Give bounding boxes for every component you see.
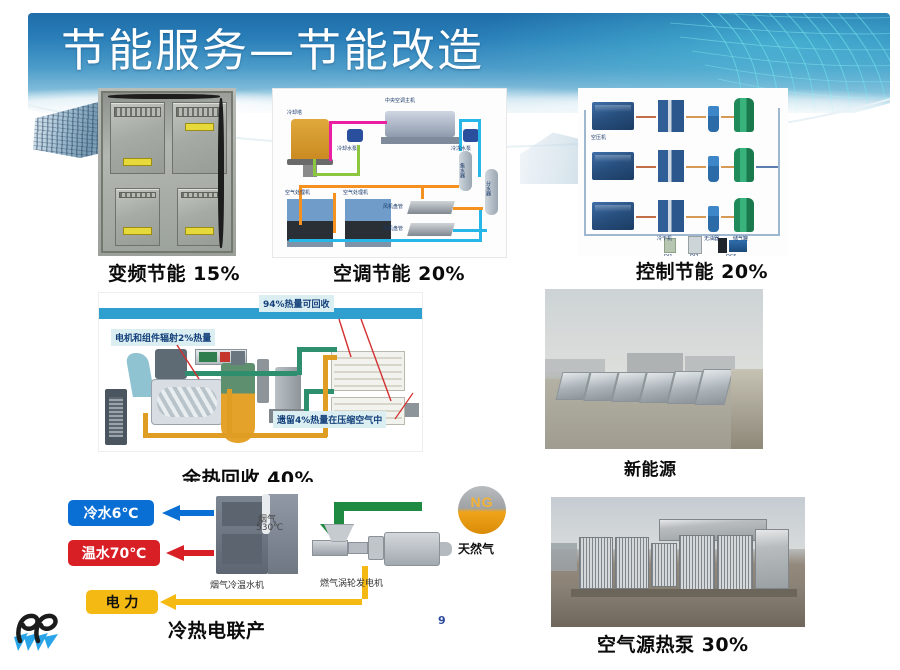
cair-label-dj1: DJ1 <box>664 254 673 256</box>
caption-cogeneration: 冷热电联产 <box>168 616 266 643</box>
cogen-label-fluegas-temp: 530℃ <box>256 523 283 533</box>
hvac-label-chiller: 中央空调主机 <box>385 97 415 104</box>
cair-label-filter: 无油器 <box>704 235 719 242</box>
image-compressed-air-schematic: 空压机 冷干机 无油器 储气罐 DJ1 DJ2 DCS <box>578 88 788 256</box>
natural-gas-sphere-icon: NG <box>458 486 506 534</box>
cair-label-dcs: DCS <box>726 254 737 256</box>
caption-control: 控制节能 20% <box>636 257 768 284</box>
hvac-label-chilled-pump: 冷冻水泵 <box>451 145 471 152</box>
cair-label-compressor: 空压机 <box>591 134 606 141</box>
cogen-label-chiller: 烟气冷温水机 <box>210 578 264 591</box>
hvac-label-fcu-2: 风机盘管 <box>383 225 403 232</box>
slide-canvas: 节能服务—节能改造 变频节能 15% <box>0 0 900 670</box>
image-solar-collectors <box>545 289 763 449</box>
cair-label-dryer: 冷干机 <box>657 235 672 242</box>
caption-vfd: 变频节能 15% <box>108 259 240 286</box>
image-vfd-cabinet <box>98 88 236 256</box>
caption-heat-pump: 空气源热泵 30% <box>597 630 749 657</box>
caption-new-energy: 新能源 <box>624 455 677 480</box>
image-air-source-heat-pump <box>551 497 805 627</box>
page-title: 节能服务—节能改造 <box>61 27 484 74</box>
ng-label: NG <box>458 494 506 510</box>
hvac-label-distributor: 分水器 <box>485 181 492 196</box>
cogen-label-turbine: 燃气涡轮发电机 <box>320 576 383 589</box>
image-cogeneration-diagram: 冷水6℃ 温水70℃ 电 力 NG <box>62 482 532 630</box>
image-hvac-schematic: 冷却塔 中央空调主机 冷却水泵 冷冻水泵 集水器 分水器 空气处理机 空气处理机… <box>272 88 507 258</box>
hvac-label-collector: 集水器 <box>459 163 466 178</box>
heat-pointer-arrows-icon <box>99 293 422 451</box>
hvac-label-cooling-tower: 冷却塔 <box>287 109 302 116</box>
hvac-label-cooling-pump: 冷却水泵 <box>337 145 357 152</box>
hvac-label-fcu-1: 风机盘管 <box>383 203 403 210</box>
hvac-label-ahu-1: 空气处理机 <box>285 189 310 196</box>
cogen-label-natural-gas: 天然气 <box>458 540 494 557</box>
image-heat-recovery-diagram: 94%热量可回收 电机和组件辐射2%热量 遗留4%热量在压缩空气中 <box>98 292 423 452</box>
hvac-label-ahu-2: 空气处理机 <box>343 189 368 196</box>
cair-label-dj2: DJ2 <box>690 254 699 256</box>
company-logo-icon <box>8 607 66 659</box>
page-number: 9 <box>438 614 446 627</box>
caption-hvac: 空调节能 20% <box>333 259 465 286</box>
cair-label-tank: 储气罐 <box>733 235 748 242</box>
